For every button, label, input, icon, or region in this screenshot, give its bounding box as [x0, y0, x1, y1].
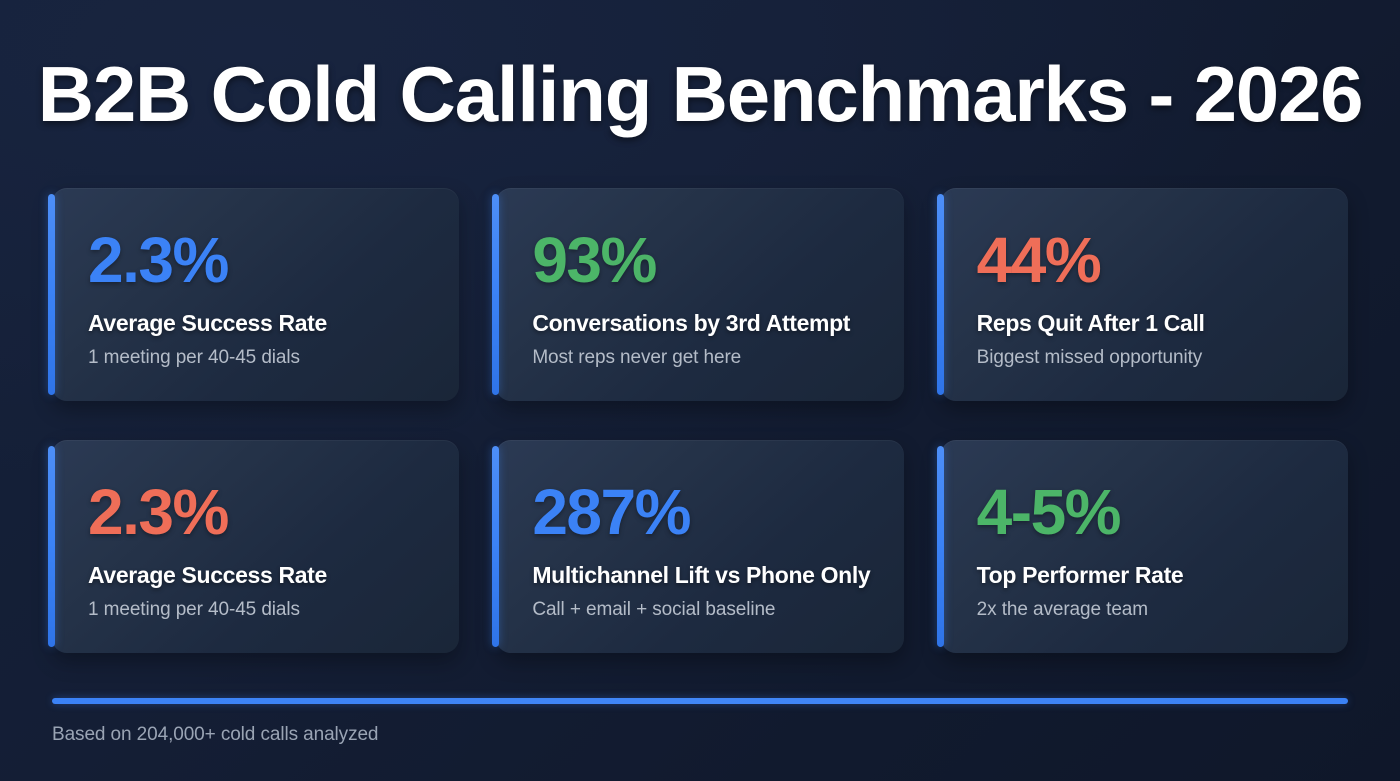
infographic-root: B2B Cold Calling Benchmarks - 2026 2.3% … — [0, 0, 1400, 781]
stat-label: Average Success Rate — [88, 310, 459, 336]
accent-bar-icon — [492, 446, 499, 647]
stat-sublabel: 1 meeting per 40-45 dials — [88, 347, 459, 370]
stat-card-conversations-by-3rd-attempt: 93% Conversations by 3rd Attempt Most re… — [496, 188, 903, 401]
stat-sublabel: Biggest missed opportunity — [977, 347, 1348, 370]
footer: Based on 204,000+ cold calls analyzed — [52, 653, 1348, 781]
accent-bar-icon — [48, 446, 55, 647]
stat-value: 44% — [977, 228, 1348, 292]
stat-sublabel: Most reps never get here — [532, 347, 903, 370]
page-title: B2B Cold Calling Benchmarks - 2026 — [38, 55, 1363, 133]
accent-bar-icon — [492, 194, 499, 395]
accent-bar-icon — [937, 446, 944, 647]
stat-value: 4-5% — [977, 480, 1348, 544]
stat-card-average-success-rate-red: 2.3% Average Success Rate 1 meeting per … — [52, 440, 459, 653]
stat-card-grid: 2.3% Average Success Rate 1 meeting per … — [52, 188, 1348, 653]
stat-value: 2.3% — [88, 228, 459, 292]
accent-bar-icon — [48, 194, 55, 395]
stat-sublabel: 2x the average team — [977, 599, 1348, 622]
stat-sublabel: 1 meeting per 40-45 dials — [88, 599, 459, 622]
stat-sublabel: Call + email + social baseline — [532, 599, 903, 622]
stat-label: Average Success Rate — [88, 562, 459, 588]
stat-card-average-success-rate-blue: 2.3% Average Success Rate 1 meeting per … — [52, 188, 459, 401]
accent-bar-icon — [937, 194, 944, 395]
footer-source-note: Based on 204,000+ cold calls analyzed — [52, 724, 1348, 746]
stat-label: Top Performer Rate — [977, 562, 1348, 588]
title-block: B2B Cold Calling Benchmarks - 2026 — [52, 0, 1348, 188]
stat-value: 93% — [532, 228, 903, 292]
stat-card-top-performer-rate: 4-5% Top Performer Rate 2x the average t… — [941, 440, 1348, 653]
stat-label: Multichannel Lift vs Phone Only — [532, 562, 903, 588]
stat-value: 287% — [532, 480, 903, 544]
stat-label: Conversations by 3rd Attempt — [532, 310, 903, 336]
stat-card-multichannel-lift: 287% Multichannel Lift vs Phone Only Cal… — [496, 440, 903, 653]
stat-value: 2.3% — [88, 480, 459, 544]
stat-card-reps-quit-after-1-call: 44% Reps Quit After 1 Call Biggest misse… — [941, 188, 1348, 401]
stat-label: Reps Quit After 1 Call — [977, 310, 1348, 336]
footer-divider — [52, 698, 1348, 704]
